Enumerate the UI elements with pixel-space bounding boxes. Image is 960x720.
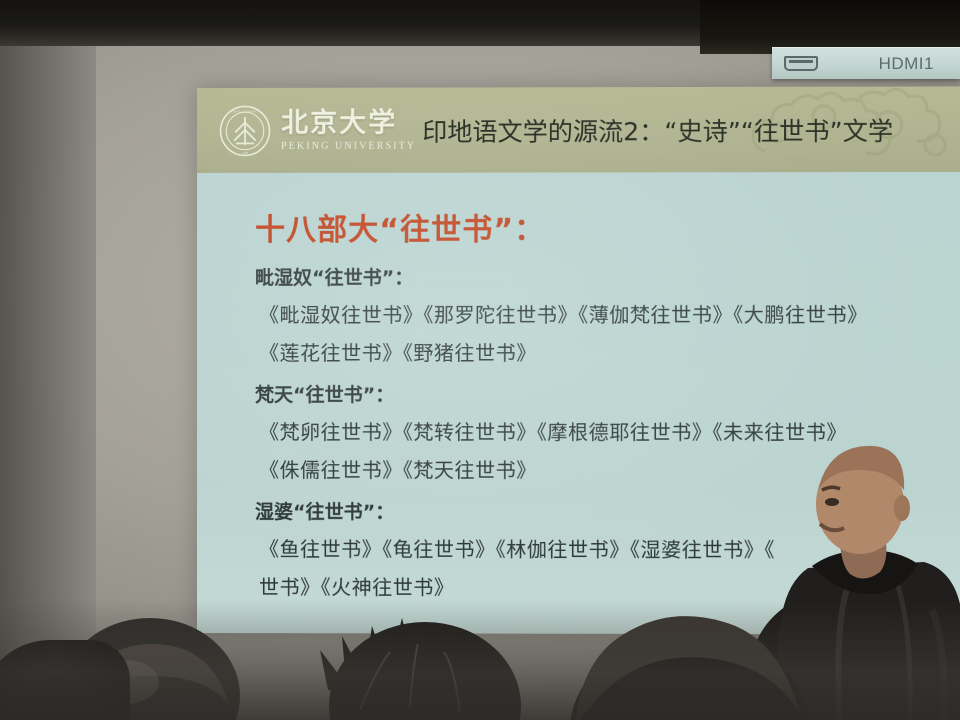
group-line: 《梵卵往世书》《梵转往世书》《摩根德耶往世书》《未来往世书》 [259, 416, 960, 445]
group-line: 世书》《火神往世书》 [259, 571, 960, 601]
group-line: 《毗湿奴往世书》《那罗陀往世书》《薄伽梵往世书》《大鹏往世书》 [259, 299, 960, 328]
pku-name-cn: 北京大学 [281, 109, 397, 136]
foreground-shadow [0, 600, 960, 720]
group-title: 毗湿奴“往世书”： [255, 262, 960, 290]
group-line: 《侏儒往世书》《梵天往世书》 [259, 454, 960, 484]
projected-slide: PEKING UNIVERSITY 1898 北京大学 PEKING UNIVE… [197, 86, 960, 634]
peking-university-seal-icon: PEKING UNIVERSITY 1898 [219, 104, 271, 156]
group-title: 湿婆“往世书”： [255, 497, 960, 525]
lecture-photo-scene: PEKING UNIVERSITY 1898 北京大学 PEKING UNIVE… [0, 0, 960, 720]
purana-group-vishnu: 毗湿奴“往世书”： 《毗湿奴往世书》《那罗陀往世书》《薄伽梵往世书》《大鹏往世书… [197, 262, 960, 366]
group-line: 《鱼往世书》《龟往世书》《林伽往世书》《湿婆往世书》《 [259, 533, 960, 563]
svg-text:1898: 1898 [242, 150, 249, 154]
svg-text:PEKING UNIVERSITY: PEKING UNIVERSITY [230, 109, 262, 113]
purana-group-brahma: 梵天“往世书”： 《梵卵往世书》《梵转往世书》《摩根德耶往世书》《未来往世书》 … [197, 380, 960, 484]
pku-wordmark: 北京大学 PEKING UNIVERSITY [281, 109, 416, 151]
hdmi-port-icon [784, 56, 818, 71]
slide-title: 印地语文学的源流2：“史诗”“往世书”文学 [422, 111, 893, 148]
slide-header: PEKING UNIVERSITY 1898 北京大学 PEKING UNIVE… [197, 86, 960, 173]
hdmi-input-badge: HDMI1 [772, 47, 960, 79]
ceiling-corner-shadow [700, 0, 960, 54]
slide-body: 十八部大“往世书”： 毗湿奴“往世书”： 《毗湿奴往世书》《那罗陀往世书》《薄伽… [197, 172, 960, 635]
group-line: 《莲花往世书》《野猪往世书》 [259, 337, 960, 366]
pku-name-en: PEKING UNIVERSITY [281, 140, 416, 151]
slide-heading: 十八部大“往世书”： [255, 204, 960, 249]
group-title: 梵天“往世书”： [255, 380, 960, 407]
purana-group-shiva: 湿婆“往世书”： 《鱼往世书》《龟往世书》《林伽往世书》《湿婆往世书》《 世书》… [197, 497, 960, 601]
hdmi-input-label: HDMI1 [879, 54, 934, 74]
